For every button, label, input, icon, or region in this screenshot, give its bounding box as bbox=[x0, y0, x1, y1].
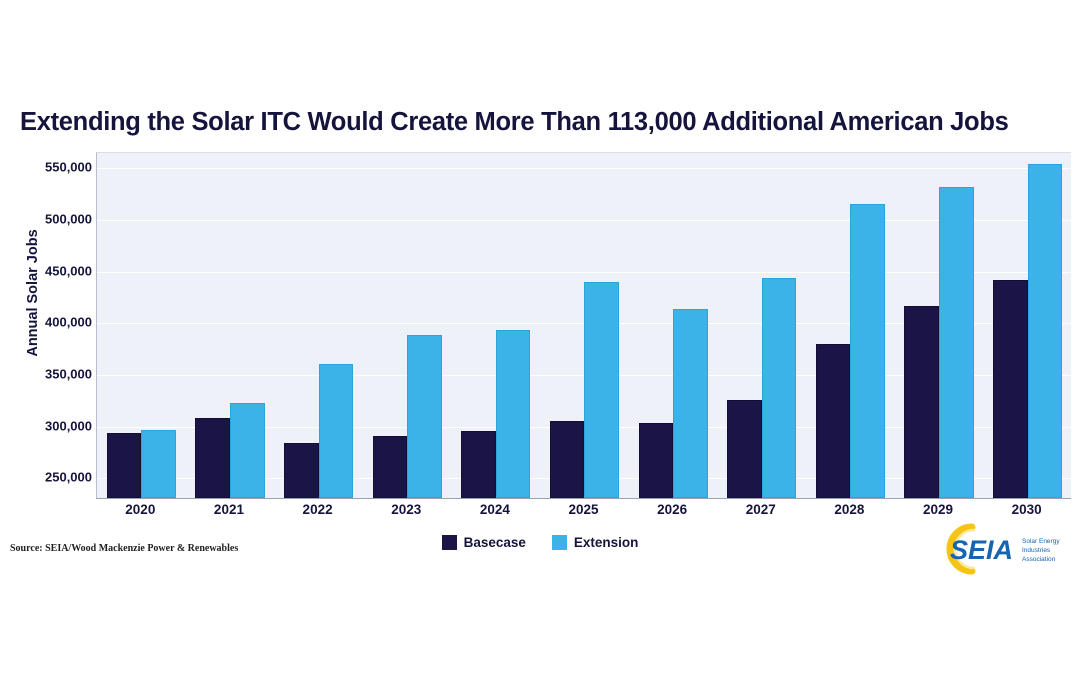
bar-group bbox=[993, 153, 1062, 498]
y-axis-tick-label: 500,000 bbox=[6, 212, 92, 227]
bar-basecase-2028[interactable] bbox=[816, 344, 851, 498]
y-axis-tick-label: 300,000 bbox=[6, 418, 92, 433]
x-axis-tick-label-2030: 2030 bbox=[1012, 502, 1042, 517]
seia-tagline-line3: Association bbox=[1022, 556, 1056, 563]
bar-basecase-2026[interactable] bbox=[639, 423, 674, 498]
y-axis-tick-label: 400,000 bbox=[6, 315, 92, 330]
bar-group bbox=[904, 153, 973, 498]
bar-extension-2027[interactable] bbox=[762, 278, 797, 498]
legend-item-basecase[interactable]: Basecase bbox=[442, 535, 526, 550]
bar-basecase-2022[interactable] bbox=[284, 443, 319, 498]
bar-basecase-2029[interactable] bbox=[904, 306, 939, 498]
bar-extension-2028[interactable] bbox=[850, 204, 885, 498]
seia-logo: SEIA Solar Energy Industries Association bbox=[932, 521, 1072, 577]
x-axis-tick-label-2028: 2028 bbox=[834, 502, 864, 517]
bar-extension-2023[interactable] bbox=[407, 335, 442, 498]
x-axis-tick-label-2027: 2027 bbox=[746, 502, 776, 517]
x-axis-tick-label-2023: 2023 bbox=[391, 502, 421, 517]
bar-group bbox=[727, 153, 796, 498]
y-axis-tick-label: 550,000 bbox=[6, 160, 92, 175]
bar-extension-2030[interactable] bbox=[1028, 164, 1063, 498]
y-axis-tick-labels: 250,000300,000350,000400,000450,000500,0… bbox=[0, 152, 92, 498]
x-axis-tick-label-2025: 2025 bbox=[568, 502, 598, 517]
x-axis-tick-label-2024: 2024 bbox=[480, 502, 510, 517]
y-axis-tick-label: 450,000 bbox=[6, 263, 92, 278]
seia-tagline-line2: Industries bbox=[1022, 547, 1051, 554]
x-axis-tick-label-2021: 2021 bbox=[214, 502, 244, 517]
chart-canvas: Extending the Solar ITC Would Create Mor… bbox=[0, 0, 1080, 675]
bar-basecase-2025[interactable] bbox=[550, 421, 585, 498]
x-axis-tick-label-2020: 2020 bbox=[125, 502, 155, 517]
plot-inner bbox=[97, 153, 1071, 498]
bar-basecase-2021[interactable] bbox=[195, 418, 230, 498]
legend-item-extension[interactable]: Extension bbox=[552, 535, 639, 550]
bar-extension-2021[interactable] bbox=[230, 403, 265, 498]
bar-group bbox=[284, 153, 353, 498]
x-axis-tick-label-2029: 2029 bbox=[923, 502, 953, 517]
bar-group bbox=[816, 153, 885, 498]
legend-swatch-icon bbox=[442, 535, 457, 550]
x-axis-tick-label-2026: 2026 bbox=[657, 502, 687, 517]
bar-basecase-2027[interactable] bbox=[727, 400, 762, 498]
legend-swatch-icon bbox=[552, 535, 567, 550]
seia-tagline-line1: Solar Energy bbox=[1022, 538, 1060, 545]
plot-area bbox=[96, 152, 1071, 498]
bar-group bbox=[461, 153, 530, 498]
bar-group bbox=[195, 153, 264, 498]
x-axis-line bbox=[96, 498, 1071, 499]
legend-label: Extension bbox=[574, 535, 639, 550]
x-axis-tick-label-2022: 2022 bbox=[303, 502, 333, 517]
y-axis-tick-label: 350,000 bbox=[6, 367, 92, 382]
bar-extension-2024[interactable] bbox=[496, 330, 531, 498]
bar-basecase-2020[interactable] bbox=[107, 433, 142, 498]
bar-basecase-2023[interactable] bbox=[373, 436, 408, 498]
seia-tagline: Solar Energy Industries Association bbox=[1022, 538, 1060, 563]
legend-label: Basecase bbox=[464, 535, 526, 550]
y-axis-tick-label: 250,000 bbox=[6, 470, 92, 485]
bar-group bbox=[639, 153, 708, 498]
x-axis-tick-labels: 2020202120222023202420252026202720282029… bbox=[96, 502, 1071, 526]
bar-group bbox=[373, 153, 442, 498]
bar-basecase-2024[interactable] bbox=[461, 431, 496, 498]
bar-group bbox=[550, 153, 619, 498]
chart-title: Extending the Solar ITC Would Create Mor… bbox=[20, 108, 1076, 137]
source-note: Source: SEIA/Wood Mackenzie Power & Rene… bbox=[10, 543, 238, 554]
bar-extension-2022[interactable] bbox=[319, 364, 354, 498]
bar-extension-2029[interactable] bbox=[939, 187, 974, 498]
bar-extension-2026[interactable] bbox=[673, 309, 708, 498]
seia-wordmark: SEIA bbox=[950, 535, 1013, 565]
bar-group bbox=[107, 153, 176, 498]
bar-extension-2025[interactable] bbox=[584, 282, 619, 498]
bar-basecase-2030[interactable] bbox=[993, 280, 1028, 498]
bar-extension-2020[interactable] bbox=[141, 430, 176, 498]
